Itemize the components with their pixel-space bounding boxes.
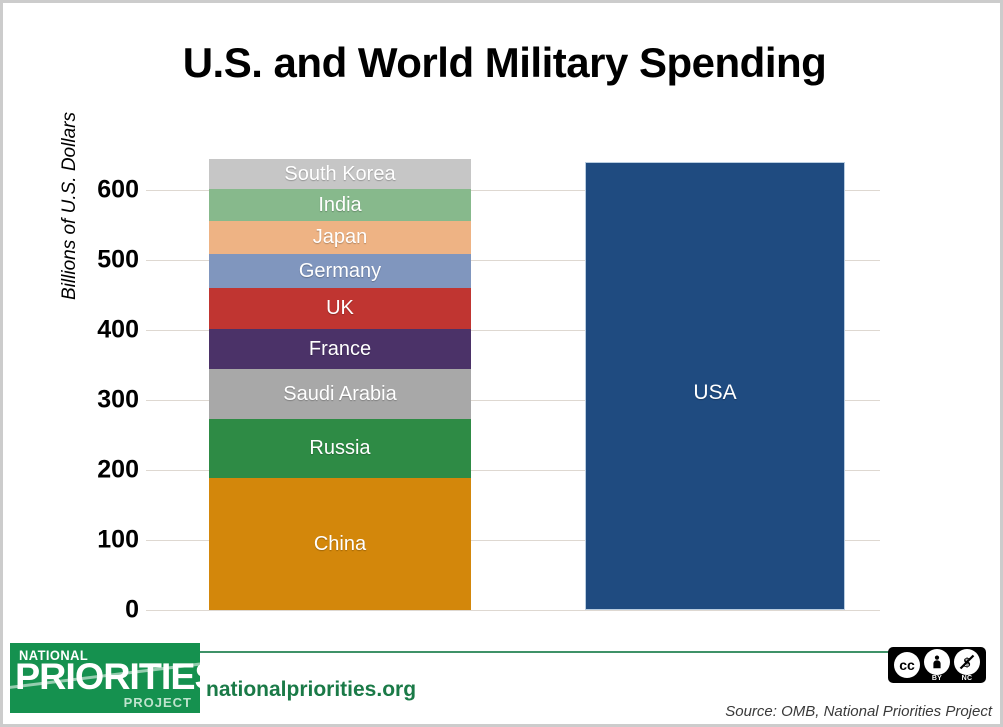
bar-segment-uk[interactable]: UK: [209, 288, 471, 329]
chart-page: U.S. and World Military Spending Billion…: [0, 0, 1003, 727]
bar-segment-label: UK: [326, 297, 354, 320]
y-tick-200: 200: [63, 458, 139, 483]
plot-area: South Korea India Japan Germany UK Franc…: [146, 155, 880, 611]
y-tick-300: 300: [63, 388, 139, 413]
logo-line-project: PROJECT: [124, 695, 192, 710]
bar-segment-saudi-arabia[interactable]: Saudi Arabia: [209, 369, 471, 419]
cc-icon: cc: [894, 652, 920, 678]
national-priorities-logo[interactable]: NATIONAL PRIORITIES PROJECT: [10, 643, 200, 713]
y-tick-500: 500: [63, 248, 139, 273]
y-tick-400: 400: [63, 318, 139, 343]
bar-segment-label: South Korea: [284, 163, 395, 186]
bar-segment-japan[interactable]: Japan: [209, 221, 471, 254]
bar-segment-label: France: [309, 338, 371, 361]
footer-divider: [193, 651, 973, 653]
source-note: Source: OMB, National Priorities Project: [725, 703, 992, 720]
bar-usa-label: USA: [586, 381, 844, 405]
non-commercial-icon: $: [954, 649, 980, 675]
cc-nc-group: $ NC: [954, 649, 980, 682]
bar-segment-germany[interactable]: Germany: [209, 254, 471, 288]
bar-segment-france[interactable]: France: [209, 329, 471, 369]
bar-usa[interactable]: USA: [585, 162, 845, 610]
cc-by-caption: BY: [932, 675, 942, 682]
page-title: U.S. and World Military Spending: [3, 39, 1003, 87]
bar-segment-label: Japan: [313, 226, 368, 249]
person-icon: [924, 649, 950, 675]
logo-line-priorities: PRIORITIES: [15, 658, 200, 695]
bar-segment-russia[interactable]: Russia: [209, 419, 471, 478]
y-tick-0: 0: [63, 598, 139, 623]
stacked-bar-rest-of-world[interactable]: South Korea India Japan Germany UK Franc…: [209, 159, 471, 610]
creative-commons-badge[interactable]: cc BY $ NC: [888, 647, 986, 683]
bar-segment-south-korea[interactable]: South Korea: [209, 159, 471, 189]
bar-segment-label: India: [318, 194, 361, 217]
y-axis-tick-labels: 600 500 400 300 200 100 0: [63, 155, 139, 611]
bar-segment-label: Germany: [299, 260, 381, 283]
bar-segment-china[interactable]: China: [209, 478, 471, 610]
bar-segment-label: Russia: [309, 437, 370, 460]
gridline-0: [146, 610, 880, 611]
cc-nc-caption: NC: [962, 675, 973, 682]
site-url-link[interactable]: nationalpriorities.org: [206, 678, 416, 702]
cc-by-group: BY: [924, 649, 950, 682]
y-tick-100: 100: [63, 528, 139, 553]
footer: NATIONAL PRIORITIES PROJECT nationalprio…: [3, 639, 1000, 724]
bar-segment-label: China: [314, 533, 366, 556]
y-tick-600: 600: [63, 178, 139, 203]
bar-segment-label: Saudi Arabia: [283, 383, 396, 406]
cc-icon-group: cc: [894, 652, 920, 678]
bar-segment-india[interactable]: India: [209, 189, 471, 221]
